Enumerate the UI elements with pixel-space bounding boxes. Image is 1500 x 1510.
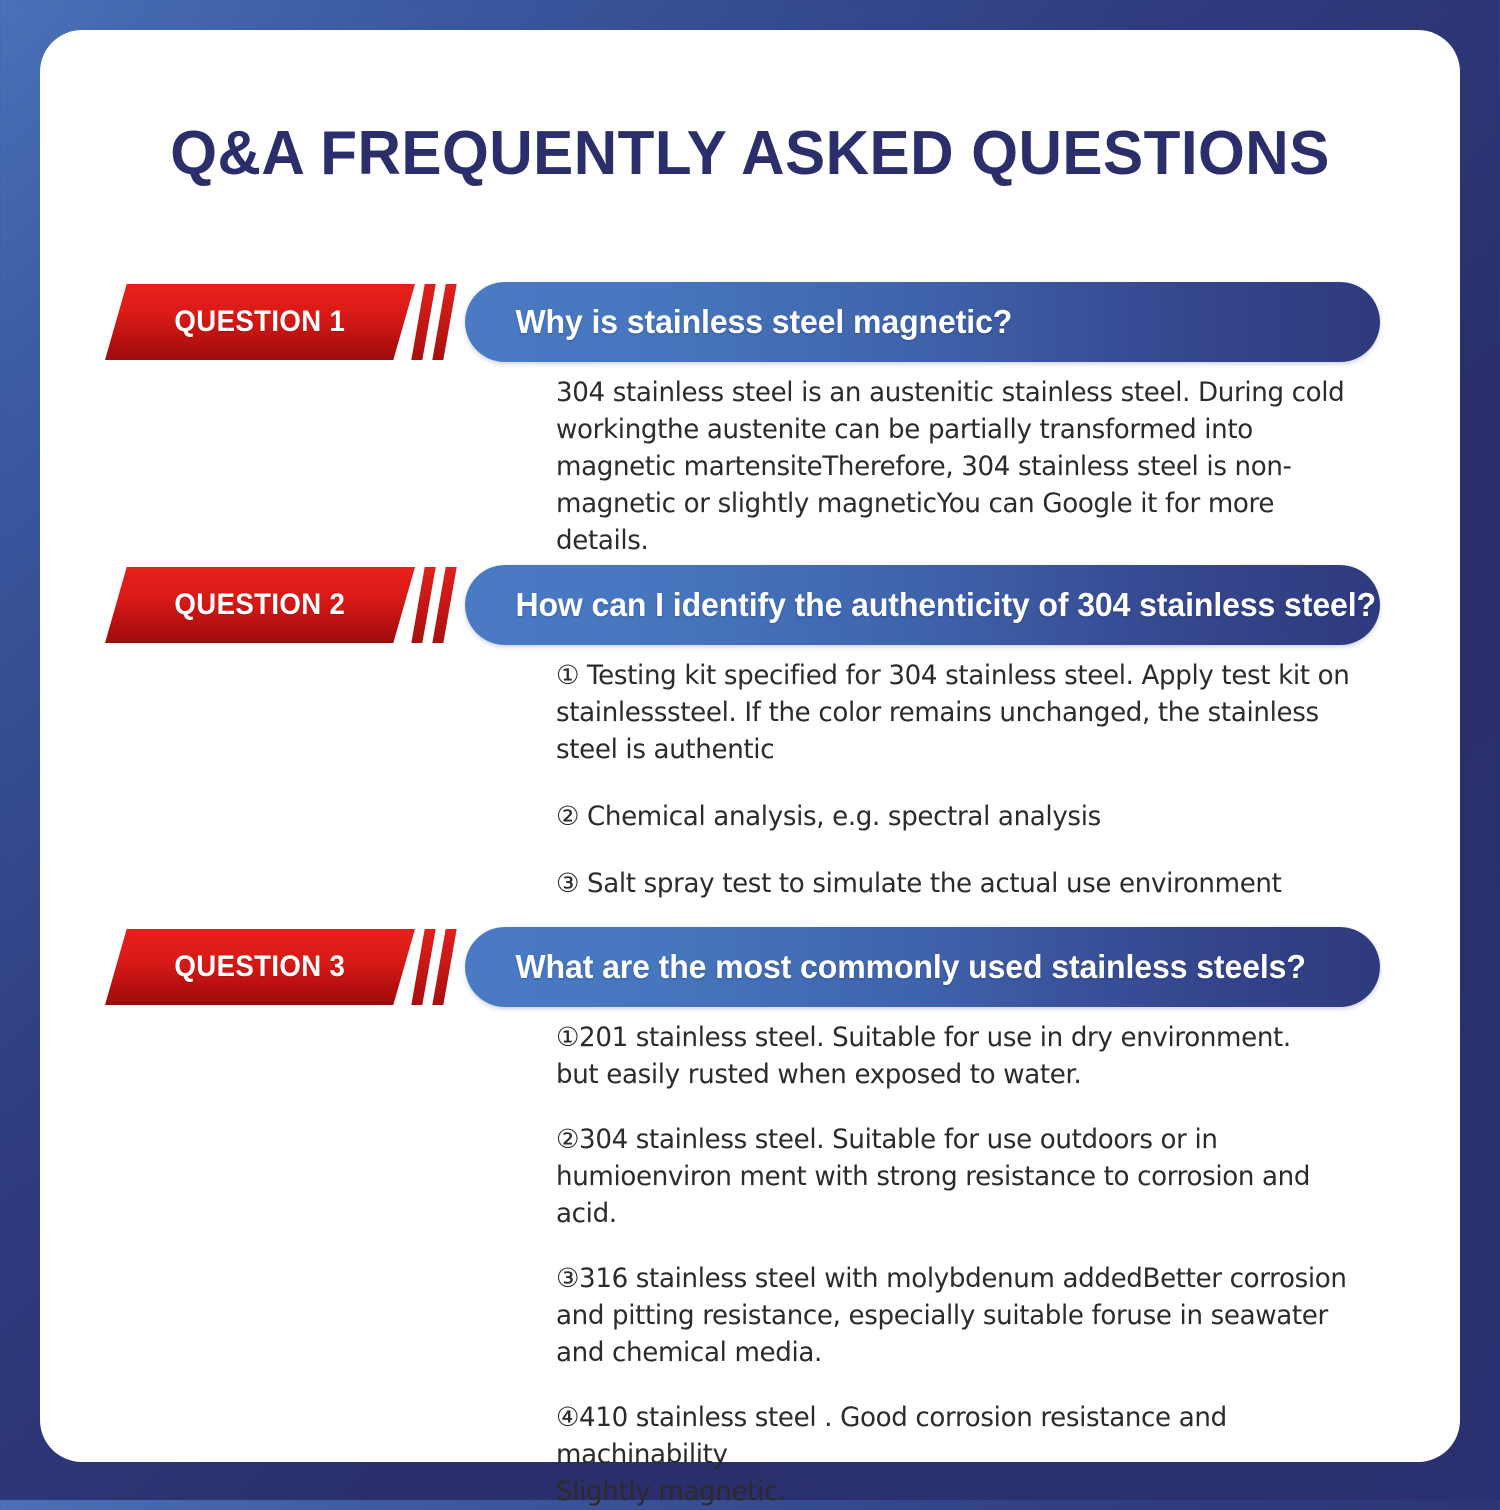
- question-badge-1[interactable]: QUESTION 1: [105, 284, 415, 360]
- answer-group-1: 304 stainless steel is an austenitic sta…: [556, 374, 1382, 559]
- answer-paragraph: ③316 stainless steel with molybdenum add…: [556, 1260, 1370, 1371]
- slash-decoration-icon: [411, 284, 435, 360]
- question-badge-label: QUESTION 2: [175, 588, 346, 622]
- answer-paragraph: ① Testing kit specified for 304 stainles…: [556, 657, 1370, 768]
- slash-decoration-icon: [432, 929, 456, 1005]
- slash-decoration-icon: [411, 929, 435, 1005]
- faq-item-3: QUESTION 3 What are the most commonly us…: [40, 927, 1460, 1007]
- slash-decoration-icon: [411, 567, 435, 643]
- question-text: Why is stainless steel magnetic?: [465, 303, 1041, 341]
- answer-paragraph: ③ Salt spray test to simulate the actual…: [556, 865, 1370, 902]
- question-text: What are the most commonly used stainles…: [465, 948, 1335, 986]
- answer-paragraph: ②304 stainless steel. Suitable for use o…: [556, 1121, 1370, 1232]
- faq-header-1: QUESTION 1 Why is stainless steel magnet…: [40, 282, 1460, 362]
- answer-paragraph: 304 stainless steel is an austenitic sta…: [556, 374, 1370, 559]
- question-text: How can I identify the authenticity of 3…: [465, 586, 1405, 624]
- question-banner-1[interactable]: Why is stainless steel magnetic?: [465, 282, 1380, 362]
- faq-card: Q&A FREQUENTLY ASKED QUESTIONS QUESTION …: [40, 30, 1460, 1462]
- answer-paragraph: ② Chemical analysis, e.g. spectral analy…: [556, 798, 1370, 835]
- faq-item-1: QUESTION 1 Why is stainless steel magnet…: [40, 282, 1460, 362]
- question-banner-2[interactable]: How can I identify the authenticity of 3…: [465, 565, 1380, 645]
- slash-decoration-icon: [432, 284, 456, 360]
- faq-header-2: QUESTION 2 How can I identify the authen…: [40, 565, 1460, 645]
- question-badge-label: QUESTION 3: [175, 950, 346, 984]
- answer-paragraph: ④410 stainless steel . Good corrosion re…: [556, 1399, 1370, 1510]
- question-badge-2[interactable]: QUESTION 2: [105, 567, 415, 643]
- question-banner-3[interactable]: What are the most commonly used stainles…: [465, 927, 1380, 1007]
- slash-decoration-icon: [432, 567, 456, 643]
- faq-item-2: QUESTION 2 How can I identify the authen…: [40, 565, 1460, 645]
- answer-group-3: ①201 stainless steel. Suitable for use i…: [556, 1019, 1382, 1510]
- faq-header-3: QUESTION 3 What are the most commonly us…: [40, 927, 1460, 1007]
- question-badge-3[interactable]: QUESTION 3: [105, 929, 415, 1005]
- answer-group-2: ① Testing kit specified for 304 stainles…: [556, 657, 1382, 902]
- answer-paragraph: ①201 stainless steel. Suitable for use i…: [556, 1019, 1370, 1093]
- question-badge-label: QUESTION 1: [175, 305, 346, 339]
- page-title: Q&A FREQUENTLY ASKED QUESTIONS: [61, 118, 1438, 189]
